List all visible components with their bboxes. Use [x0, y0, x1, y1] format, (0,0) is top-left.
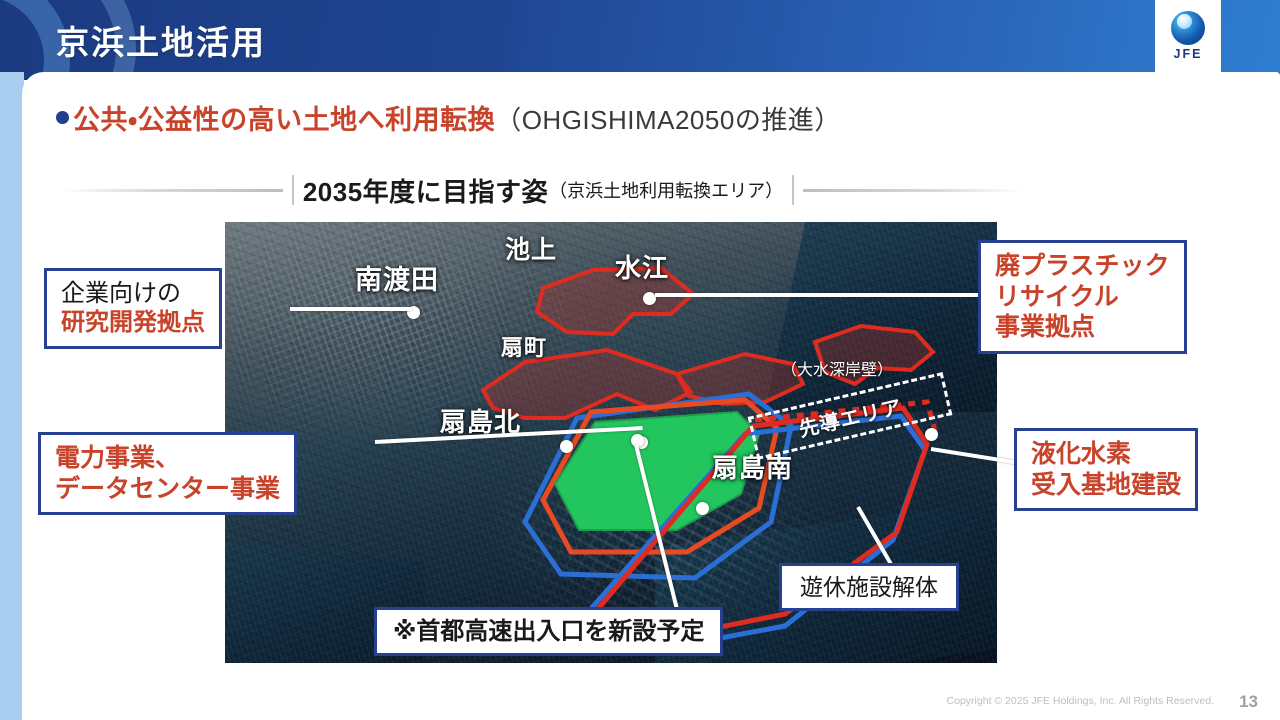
bullet-headline-main: 公共・公益性の高い土地へ利用転換: [73, 98, 495, 137]
section-tick-left-icon: [292, 175, 294, 205]
leader-dot-hydrogen: [925, 428, 938, 441]
callout-plastic-line2: リサイクル: [995, 282, 1170, 313]
slide-header: 京浜土地活用: [0, 0, 1280, 80]
slide-root: 京浜土地活用 JFE 公共・公益性の高い土地へ利用転換 （OHGISHIMA20…: [0, 0, 1280, 720]
map-label-minamiwatarida: 南渡田: [355, 258, 439, 297]
map-label-ikegami: 池上: [505, 230, 557, 266]
callout-rd-line2: 研究開発拠点: [61, 308, 205, 337]
callout-hydrogen-line1: 液化水素: [1031, 439, 1181, 470]
callout-liquid-hydrogen[interactable]: 液化水素 受入基地建設: [1014, 428, 1198, 511]
page-title: 京浜土地活用: [56, 16, 266, 64]
section-rule-right: [803, 189, 1024, 192]
callout-idle-line1: 遊休施設解体: [800, 573, 938, 601]
footer-copyright: Copyright © 2025 JFE Holdings, Inc. All …: [947, 695, 1214, 707]
callout-rd-line1: 企業向けの: [61, 279, 205, 308]
callout-rd-hub[interactable]: 企業向けの 研究開発拠点: [44, 268, 222, 349]
callout-plastic-line3: 事業拠点: [995, 312, 1170, 343]
section-rule-left: [62, 189, 283, 192]
callout-plastic-line1: 廃プラスチック: [995, 251, 1170, 282]
footer-page-number: 13: [1239, 692, 1258, 712]
callout-hydrogen-line2: 受入基地建設: [1031, 470, 1181, 501]
callout-idle-demolition[interactable]: 遊休施設解体: [779, 563, 959, 611]
bullet-headline-sub: （OHGISHIMA2050の推進）: [495, 100, 841, 137]
leader-dot-green: [560, 440, 573, 453]
callout-plastic-recycle[interactable]: 廃プラスチック リサイクル 事業拠点: [978, 240, 1187, 354]
callout-power-line1: 電力事業、: [55, 443, 280, 474]
jfe-logo-text: JFE: [1174, 47, 1203, 61]
bullet-dot-icon: [56, 111, 69, 124]
callout-power-datacenter[interactable]: 電力事業、 データセンター事業: [38, 432, 297, 515]
leader-dot-idle: [696, 502, 709, 515]
jfe-sphere-icon: [1171, 11, 1205, 45]
section-title: 2035年度に目指す姿: [303, 172, 548, 209]
callout-power-line2: データセンター事業: [55, 474, 280, 505]
callout-highway-interchange[interactable]: ※首都高速出入口を新設予定: [374, 607, 723, 656]
map-label-mizue: 水江: [615, 248, 669, 285]
map-label-deep-water-quay: （大水深岸壁）: [781, 356, 893, 380]
leader-line-rd: [290, 307, 412, 311]
section-tick-right-icon: [792, 175, 794, 205]
leader-line-plastic: [655, 293, 985, 297]
map-label-ogimachi: 扇町: [501, 330, 547, 362]
section-heading: 2035年度に目指す姿 （京浜土地利用転換エリア）: [62, 170, 1024, 210]
callout-highway-line1: ※首都高速出入口を新設予定: [393, 617, 704, 646]
bullet-headline: 公共・公益性の高い土地へ利用転換 （OHGISHIMA2050の推進）: [56, 98, 841, 137]
section-subtitle: （京浜土地利用転換エリア）: [549, 177, 783, 203]
jfe-logo: JFE: [1155, 0, 1221, 72]
left-accent-band: [0, 72, 24, 720]
